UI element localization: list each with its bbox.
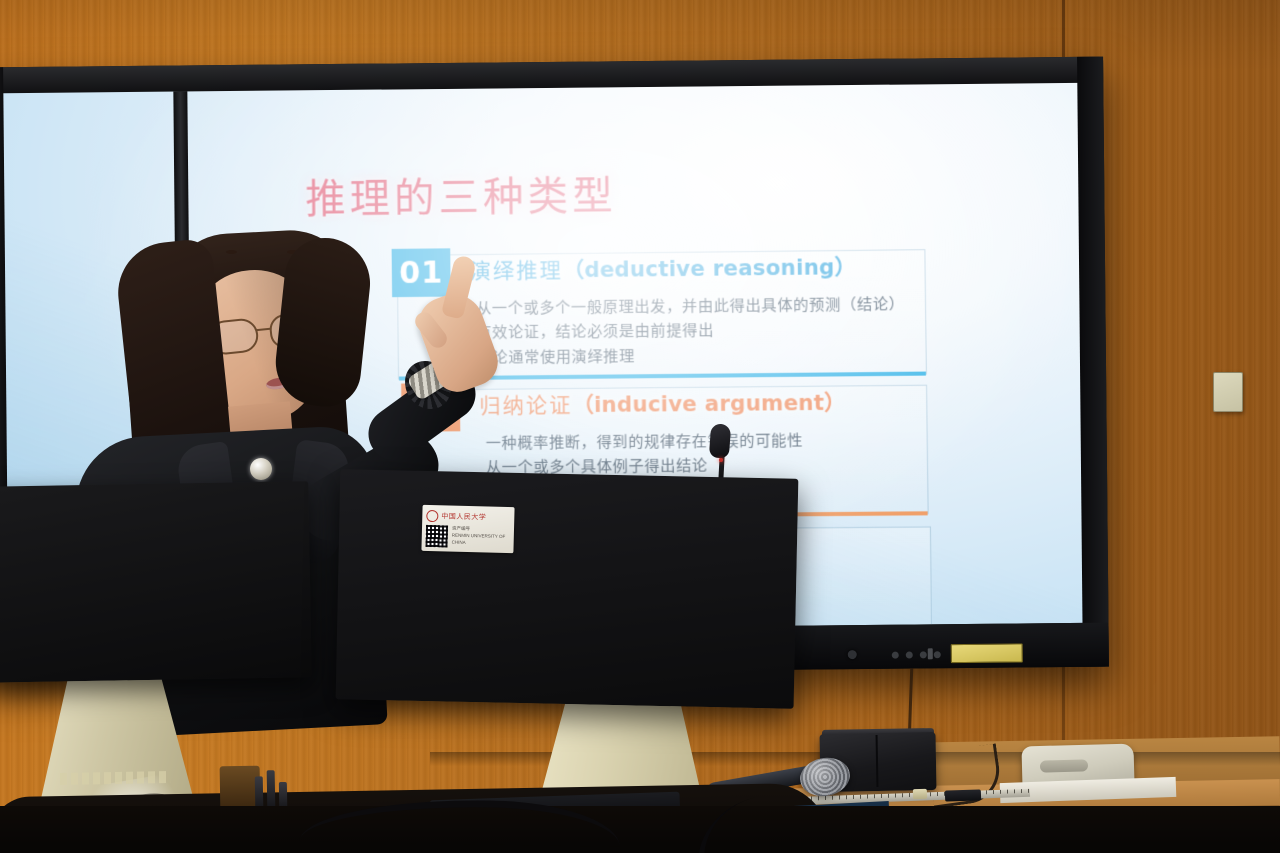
brooch-icon <box>250 458 272 480</box>
display-control-buttons[interactable] <box>892 651 941 658</box>
monitor-left-panel[interactable] <box>0 481 312 683</box>
qr-code-icon <box>426 525 449 548</box>
display-button-1[interactable] <box>892 652 899 659</box>
card-body-01: 从一个或多个一般原理出发，并由此得出具体的预测（结论） 有效论证，结论必须是由前… <box>476 292 906 370</box>
display-button-4[interactable] <box>934 651 941 658</box>
display-button-2[interactable] <box>906 651 913 658</box>
asset-tag-line2: RENMIN UNIVERSITY OF CHINA <box>452 532 511 547</box>
card-heading-en-01: （deductive reasoning） <box>563 255 857 282</box>
display-warning-label <box>951 643 1023 663</box>
presenter-eye-left <box>226 250 237 254</box>
mic-led-indicator <box>719 458 723 462</box>
card-heading-zh-01: 演绎推理 <box>470 258 563 283</box>
display-power-button[interactable] <box>848 650 857 659</box>
card-heading-en-02: （inducive argument） <box>572 391 846 418</box>
gooseneck-mic-head[interactable] <box>709 423 731 458</box>
display-ir-receiver <box>928 648 933 659</box>
display-button-3[interactable] <box>920 651 927 658</box>
usb-stick[interactable] <box>945 789 981 801</box>
card-heading-zh-02: 归纳论证 <box>479 393 573 418</box>
monitor-right-panel[interactable] <box>336 469 799 709</box>
slide-title: 推理的三种类型 <box>305 176 617 220</box>
asset-tag-university: 中国人民大学 <box>441 511 486 522</box>
monitor-left[interactable]: D∂LL <box>0 484 310 814</box>
asset-tag-header: 中国人民大学 <box>426 508 511 525</box>
card-heading-02: 归纳论证（inducive argument） <box>479 392 846 419</box>
lecture-room-photo: 推理的三种类型 01 演绎推理（deductive reasoning） 从一个… <box>0 0 1280 853</box>
wall-switch-plate[interactable] <box>1213 372 1243 412</box>
asset-tag-text: 资产编号 RENMIN UNIVERSITY OF CHINA <box>452 526 512 548</box>
asset-tag-sticker: 中国人民大学 资产编号 RENMIN UNIVERSITY OF CHINA <box>421 505 514 553</box>
foreground-desk-lower <box>0 806 1280 853</box>
card-heading-01: 演绎推理（deductive reasoning） <box>470 256 857 283</box>
small-clip[interactable] <box>913 789 927 799</box>
keyboard-keys[interactable] <box>60 771 170 785</box>
hole-punch-slot <box>1040 759 1088 772</box>
university-seal-icon <box>426 509 438 521</box>
